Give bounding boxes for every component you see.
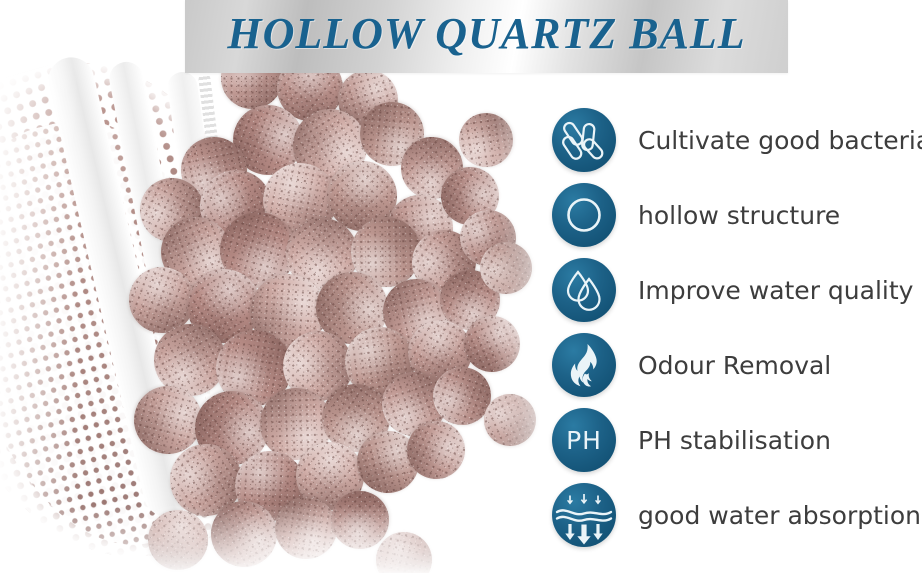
- hollow-ring-icon: [552, 183, 616, 247]
- feature-label: good water absorption: [638, 483, 921, 547]
- ph-icon-label: PH: [552, 408, 616, 472]
- feature-label: Cultivate good bacteria: [638, 108, 922, 172]
- title-banner: HOLLOW QUARTZ BALL: [185, 0, 788, 73]
- product-infographic: HOLLOW QUARTZ BALL Cultivate good bacter…: [0, 0, 922, 573]
- feature-item-odour-removal: Odour Removal: [549, 333, 922, 408]
- feature-item-cultivate-good-bacteria: Cultivate good bacteria: [549, 108, 922, 183]
- feature-label: Odour Removal: [638, 333, 831, 397]
- water-absorption-icon: [552, 483, 616, 547]
- bacteria-icon: [552, 108, 616, 172]
- ph-text-icon: PH: [552, 408, 616, 472]
- feature-list: Cultivate good bacteria hollow structure…: [549, 108, 922, 558]
- quartz-ball: [456, 110, 517, 171]
- feature-label: Improve water quality: [638, 258, 913, 322]
- feature-item-improve-water-quality: Improve water quality: [549, 258, 922, 333]
- feature-label: hollow structure: [638, 183, 840, 247]
- feature-item-hollow-structure: hollow structure: [549, 183, 922, 258]
- feature-item-good-water-absorption: good water absorption: [549, 483, 922, 558]
- product-photo: [0, 0, 560, 573]
- water-drops-icon: [552, 258, 616, 322]
- feature-item-ph-stabilisation: PH PH stabilisation: [549, 408, 922, 483]
- feature-label: PH stabilisation: [638, 408, 831, 472]
- page-title: HOLLOW QUARTZ BALL: [185, 8, 788, 59]
- flame-icon: [552, 333, 616, 397]
